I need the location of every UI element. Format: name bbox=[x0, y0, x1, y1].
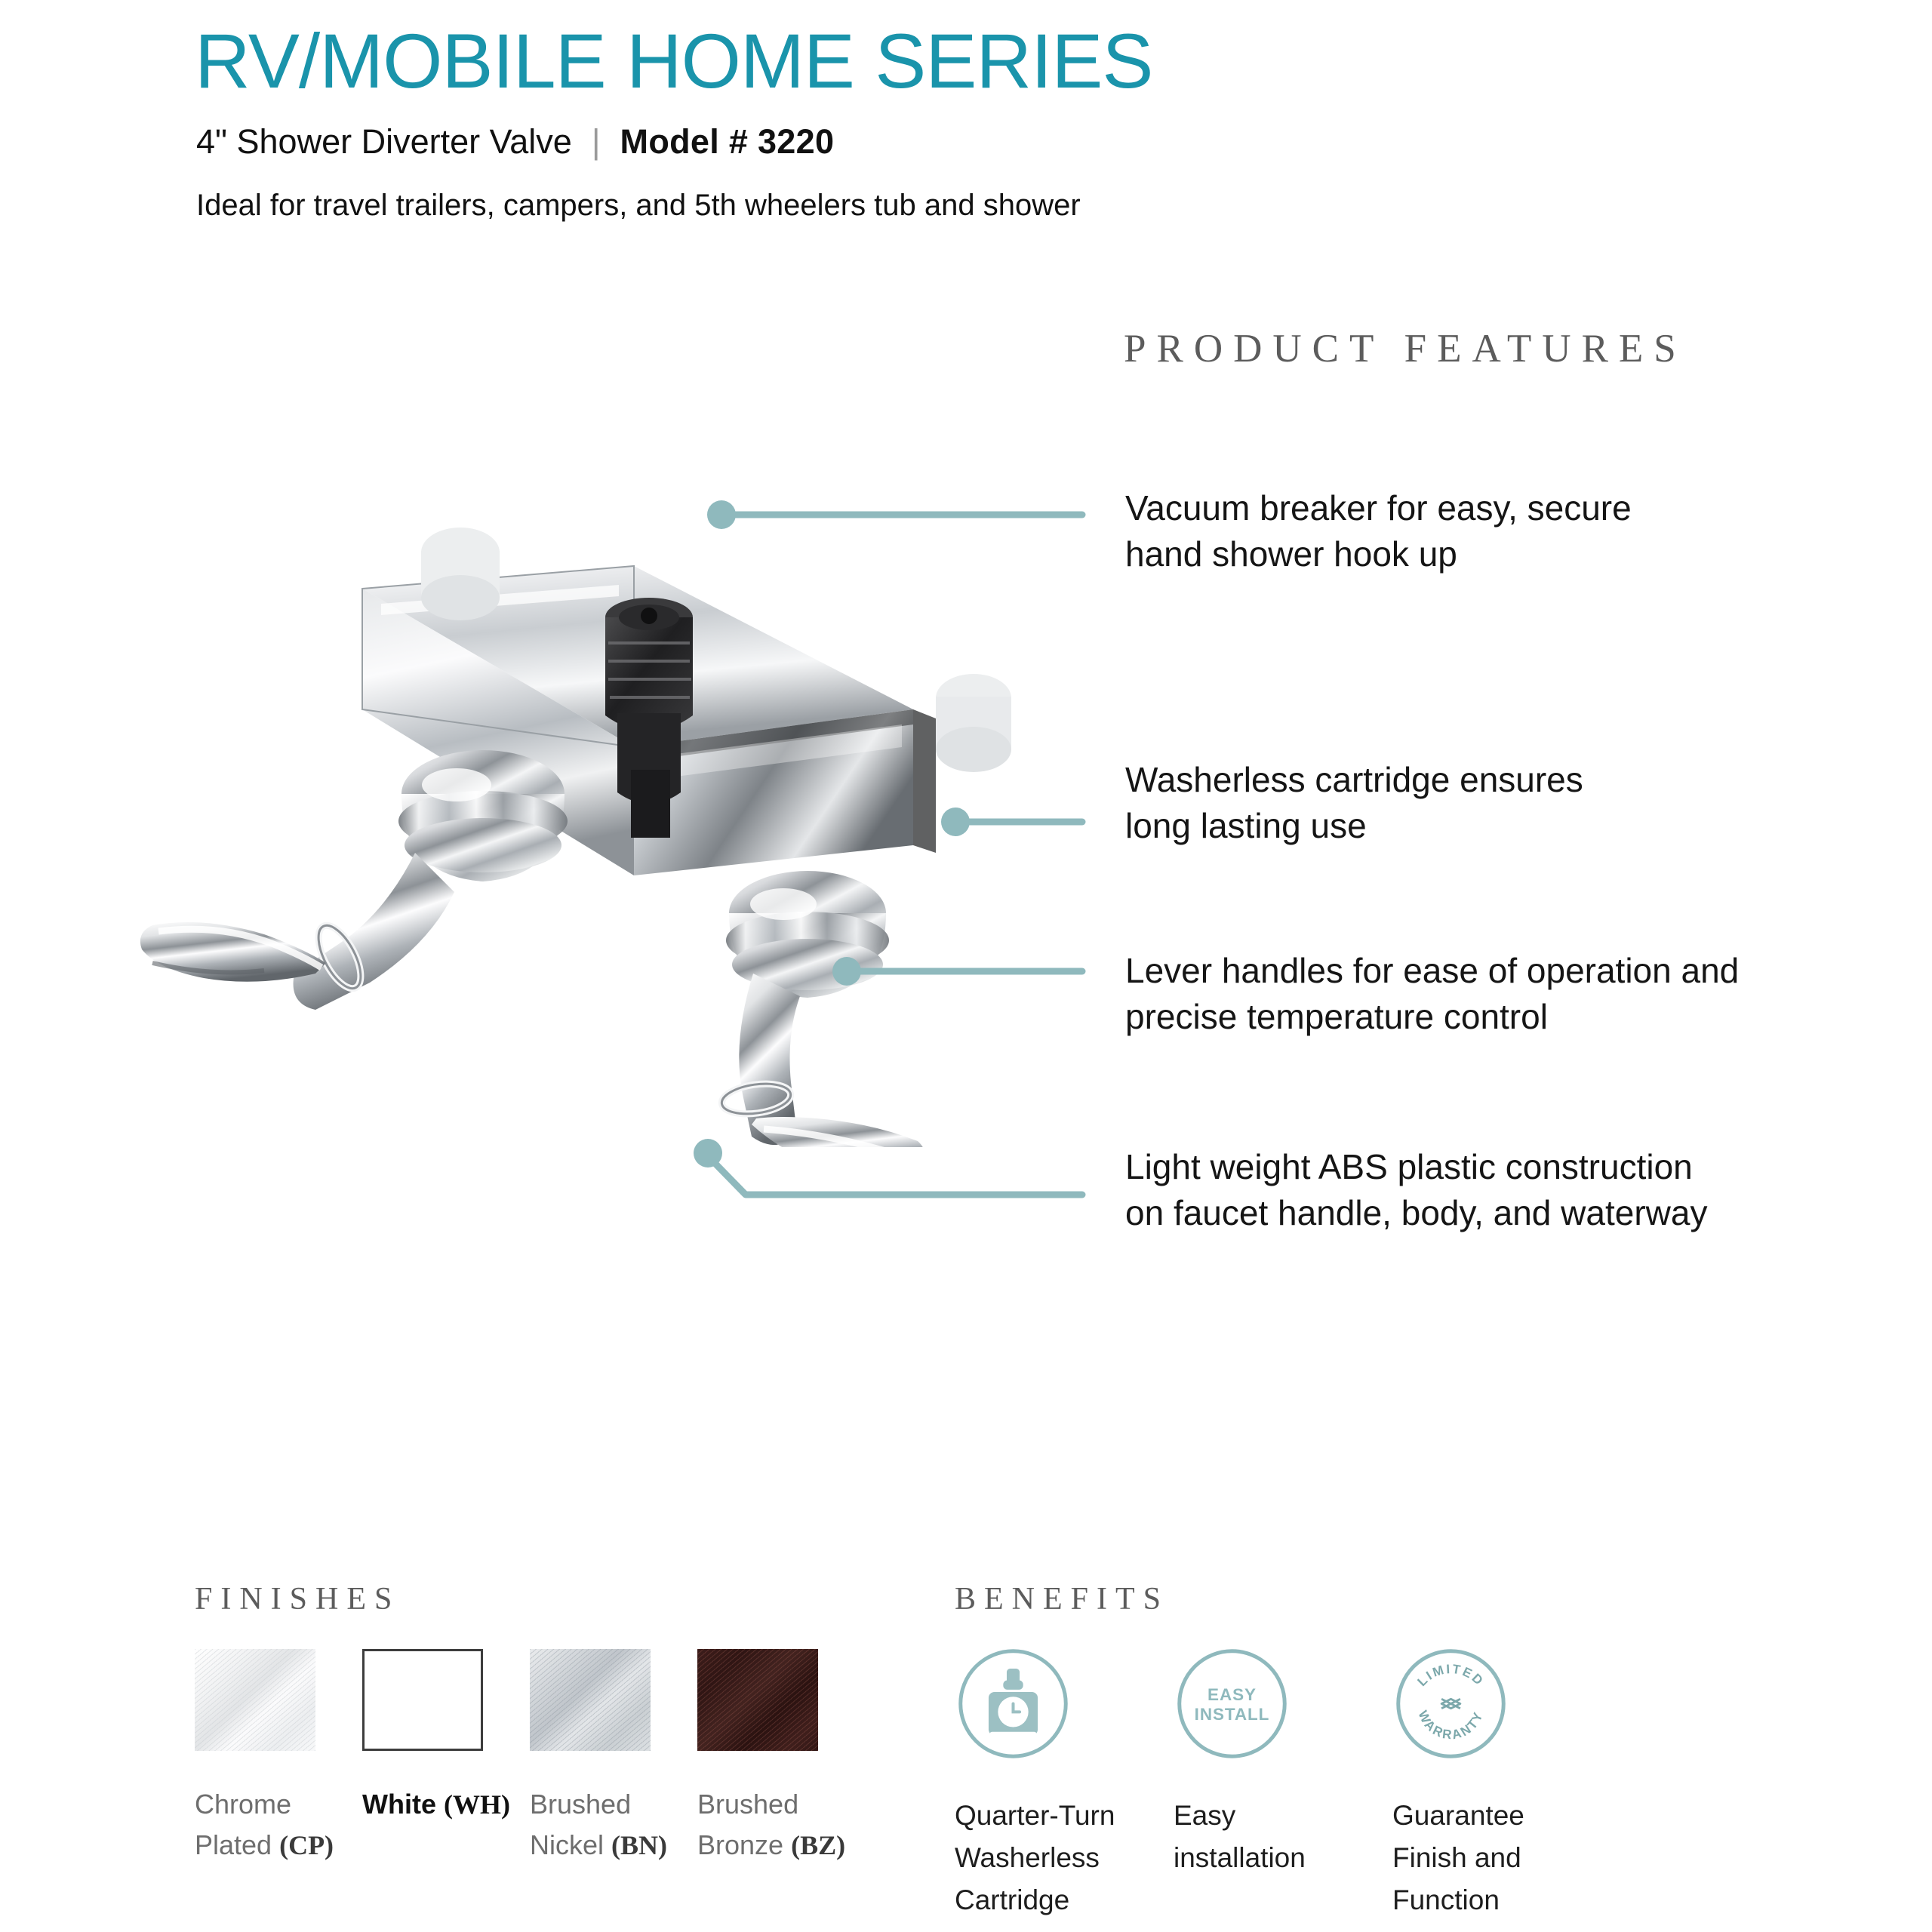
easy-install-badge-line2: INSTALL bbox=[1195, 1705, 1270, 1724]
product-spec-sheet: RV/MOBILE HOME SERIES 4" Shower Diverter… bbox=[0, 0, 1932, 1932]
product-subtitle: 4" Shower Diverter Valve | Model # 3220 bbox=[196, 122, 834, 162]
finishes-heading: FINISHES bbox=[195, 1581, 400, 1617]
finishes-list: Chrome Plated (CP) White (WH) Brushed Ni… bbox=[195, 1649, 865, 1866]
benefits-heading: BENEFITS bbox=[955, 1581, 1169, 1617]
finish-name-brushed-bronze: Brushed Bronze bbox=[697, 1789, 798, 1860]
finish-option-chrome-plated[interactable]: Chrome Plated (CP) bbox=[195, 1649, 362, 1866]
product-tagline: Ideal for travel trailers, campers, and … bbox=[196, 189, 1081, 223]
finish-label-brushed-bronze: Brushed Bronze (BZ) bbox=[697, 1784, 865, 1866]
finish-label-chrome-plated: Chrome Plated (CP) bbox=[195, 1784, 362, 1866]
warranty-seal-line2: WARRANTY bbox=[1416, 1709, 1487, 1743]
benefit-label-quarter-turn-cartridge: Quarter-Turn Washerless Cartridge bbox=[955, 1795, 1174, 1922]
finish-code-white: (WH) bbox=[444, 1789, 510, 1820]
finish-option-brushed-bronze[interactable]: Brushed Bronze (BZ) bbox=[697, 1649, 865, 1866]
benefit-guarantee: LIMITED WARRANTY Guarantee Finish and Fu… bbox=[1392, 1645, 1611, 1922]
svg-text:LIMITED: LIMITED bbox=[1415, 1662, 1487, 1689]
swatch-brushed-bronze[interactable] bbox=[697, 1649, 818, 1751]
finish-code-brushed-bronze: (BZ) bbox=[791, 1830, 845, 1860]
finish-code-chrome-plated: (CP) bbox=[279, 1830, 334, 1860]
limited-warranty-seal-icon: LIMITED WARRANTY bbox=[1392, 1645, 1509, 1762]
subtitle-separator: | bbox=[572, 122, 620, 162]
feature-text-vacuum-breaker: Vacuum breaker for easy, secure hand sho… bbox=[1125, 485, 1789, 577]
finish-option-brushed-nickel[interactable]: Brushed Nickel (BN) bbox=[530, 1649, 697, 1866]
finish-code-brushed-nickel: (BN) bbox=[611, 1830, 667, 1860]
product-features-heading: PRODUCT FEATURES bbox=[1124, 326, 1687, 371]
benefit-quarter-turn-cartridge: Quarter-Turn Washerless Cartridge bbox=[955, 1645, 1174, 1922]
benefits-list: Quarter-Turn Washerless Cartridge EASY I… bbox=[955, 1645, 1611, 1922]
product-name: 4" Shower Diverter Valve bbox=[196, 122, 572, 162]
benefit-label-easy-installation: Easy installation bbox=[1174, 1795, 1392, 1879]
mounting-nub-right bbox=[936, 674, 1011, 772]
left-lever-handle bbox=[140, 750, 568, 1010]
finish-option-white[interactable]: White (WH) bbox=[362, 1649, 530, 1866]
feature-text-lever-handles: Lever handles for ease of operation and … bbox=[1125, 948, 1850, 1040]
ribbon-emblem bbox=[1441, 1699, 1460, 1708]
finish-name-white: White bbox=[362, 1789, 444, 1820]
warranty-seal-line1: LIMITED bbox=[1415, 1662, 1487, 1689]
right-lever-handle bbox=[720, 871, 925, 1147]
cartridge-clock-icon bbox=[955, 1645, 1072, 1762]
mounting-nub-left bbox=[421, 528, 500, 620]
product-image bbox=[113, 521, 1064, 1147]
feature-text-abs-construction: Light weight ABS plastic construction on… bbox=[1125, 1144, 1850, 1236]
model-number: Model # 3220 bbox=[620, 122, 835, 162]
page-title: RV/MOBILE HOME SERIES bbox=[195, 23, 1152, 100]
finish-label-white: White (WH) bbox=[362, 1784, 530, 1825]
finish-name-chrome-plated: Chrome Plated bbox=[195, 1789, 291, 1860]
feature-text-washerless-cartridge: Washerless cartridge ensures long lastin… bbox=[1125, 757, 1789, 849]
swatch-white[interactable] bbox=[362, 1649, 483, 1751]
easy-install-badge-line1: EASY bbox=[1207, 1685, 1257, 1704]
swatch-chrome-plated[interactable] bbox=[195, 1649, 315, 1751]
benefit-easy-installation: EASY INSTALL Easy installation bbox=[1174, 1645, 1392, 1922]
svg-text:WARRANTY: WARRANTY bbox=[1416, 1709, 1487, 1743]
easy-install-icon: EASY INSTALL bbox=[1174, 1645, 1291, 1762]
finish-label-brushed-nickel: Brushed Nickel (BN) bbox=[530, 1784, 697, 1866]
swatch-brushed-nickel[interactable] bbox=[530, 1649, 651, 1751]
benefit-label-guarantee: Guarantee Finish and Function bbox=[1392, 1795, 1611, 1922]
